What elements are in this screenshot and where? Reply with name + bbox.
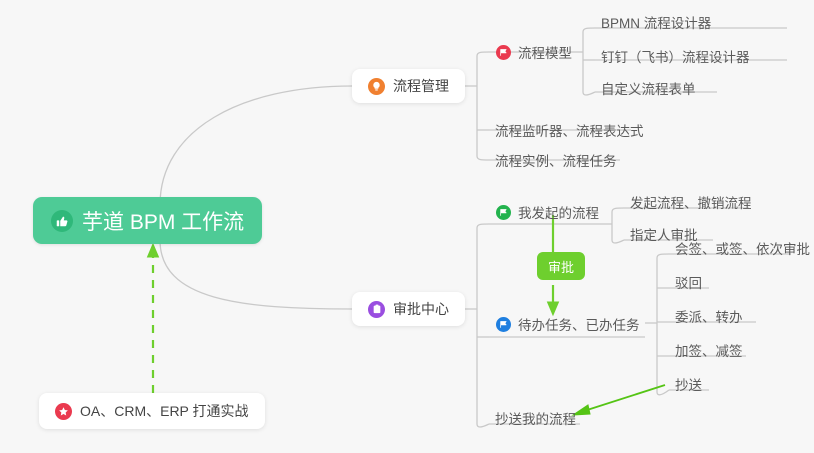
node-label-cc: 抄送 [675,374,702,394]
node-my-initiated[interactable]: 我发起的流程 [492,200,603,224]
clipboard-icon [368,301,385,318]
link-todo-corner-bot [657,390,669,395]
node-dingtalk-feishu-designer[interactable]: 钉钉（飞书）流程设计器 [597,44,754,68]
flag-icon [496,317,511,332]
node-label-listener-expression: 流程监听器、流程表达式 [495,120,644,140]
branch-label-approval-center: 审批中心 [393,299,449,319]
node-reject[interactable]: 驳回 [671,270,706,294]
node-listener-expression[interactable]: 流程监听器、流程表达式 [491,118,648,142]
node-start-cancel-process[interactable]: 发起流程、撤销流程 [626,190,756,214]
link-pm-corner-top [477,52,489,56]
root-node[interactable]: 芋道 BPM 工作流 [33,197,262,244]
mindmap-canvas: 芋道 BPM 工作流 流程管理 流程模型 BPMN 流程设计器 钉钉（飞书）流程… [0,0,814,453]
node-label-bpmn-designer: BPMN 流程设计器 [601,12,711,32]
node-instance-task[interactable]: 流程实例、流程任务 [491,148,621,172]
node-process-model[interactable]: 流程模型 [492,40,576,64]
node-label-process-model: 流程模型 [518,42,572,62]
cc-flow-arrow [573,385,665,415]
star-icon [55,403,72,420]
node-countersign[interactable]: 会签、或签、依次审批 [671,236,814,260]
link-todo-mids [657,288,669,356]
node-label-delegate-transfer: 委派、转办 [675,306,743,326]
integration-arrow [148,244,159,393]
node-label-reject: 驳回 [675,272,702,292]
integration-note-node[interactable]: OA、CRM、ERP 打通实战 [39,393,265,429]
root-label: 芋道 BPM 工作流 [82,206,244,236]
node-label-custom-process-form: 自定义流程表单 [601,78,696,98]
approve-summary-text: 审批 [548,257,574,276]
link-ac-corner-bot [477,424,489,427]
node-label-add-remove-sign: 加签、减签 [675,340,743,360]
branch-node-approval-center[interactable]: 审批中心 [352,292,465,326]
node-cc-to-me[interactable]: 抄送我的流程 [491,406,580,430]
thumbs-up-icon [51,210,73,232]
node-label-instance-task: 流程实例、流程任务 [495,150,617,170]
node-cc[interactable]: 抄送 [671,372,706,396]
link-pm-corner-bot [477,156,489,160]
node-custom-process-form[interactable]: 自定义流程表单 [597,76,700,100]
node-add-remove-sign[interactable]: 加签、减签 [671,338,747,362]
node-label-my-initiated: 我发起的流程 [518,202,599,222]
link-mine-corner-bot [612,240,624,243]
branch-node-process-management[interactable]: 流程管理 [352,69,465,103]
approve-summary-label[interactable]: 审批 [537,252,585,280]
link-pm-underlines [489,52,631,160]
node-label-dingtalk-feishu-designer: 钉钉（飞书）流程设计器 [601,46,750,66]
branch-label-process-management: 流程管理 [393,76,449,96]
link-ac-corner-top [477,224,489,228]
link-root-to-approval-center [160,240,352,309]
link-model-corner-top [583,28,595,32]
flag-icon [496,205,511,220]
link-model-corner-bot [583,92,595,95]
node-todo-done-tasks[interactable]: 待办任务、已办任务 [492,312,644,336]
link-root-to-process-management [160,86,352,205]
node-delegate-transfer[interactable]: 委派、转办 [671,304,747,328]
node-label-start-cancel-process: 发起流程、撤销流程 [630,192,752,212]
link-todo-corner-top [657,254,669,258]
node-label-countersign: 会签、或签、依次审批 [675,238,810,258]
integration-note-label: OA、CRM、ERP 打通实战 [80,401,249,421]
node-label-cc-to-me: 抄送我的流程 [495,408,576,428]
node-label-todo-done-tasks: 待办任务、已办任务 [518,314,640,334]
link-mine-corner-top [612,208,624,212]
node-bpmn-designer[interactable]: BPMN 流程设计器 [597,10,715,34]
flag-icon [496,45,511,60]
lightbulb-icon [368,78,385,95]
